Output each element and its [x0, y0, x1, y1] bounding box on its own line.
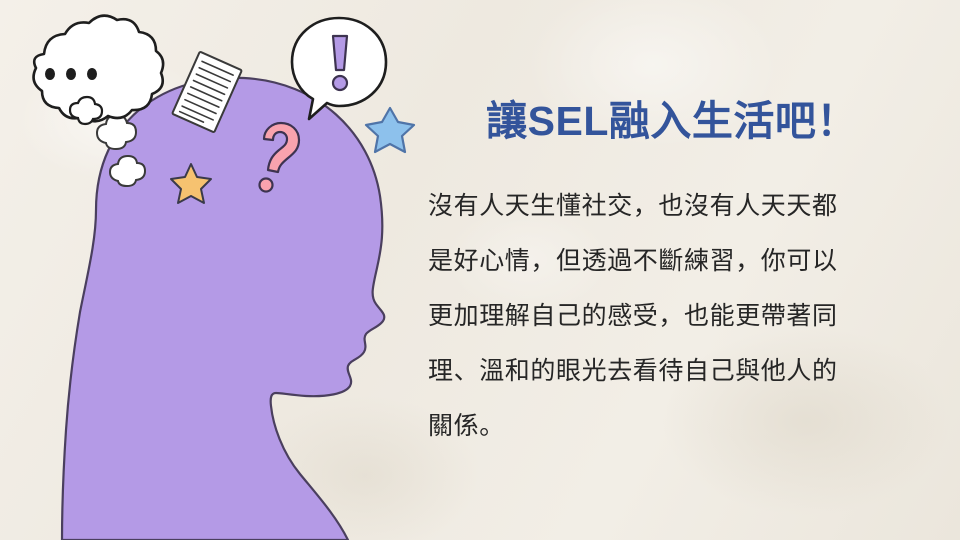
- exclamation-dot: [333, 76, 347, 90]
- body-line: 更加理解自己的感受，也能更帶著同: [412, 289, 932, 344]
- star-blue-icon: [366, 108, 414, 152]
- exclamation-stem: [333, 36, 347, 70]
- thought-dot-1: [45, 68, 55, 80]
- body-line: 是好心情，但透過不斷練習，你可以: [412, 234, 932, 289]
- thought-cloud-icon: [34, 16, 164, 124]
- body-paragraph: 沒有人天生懂社交，也沒有人天天都 是好心情，但透過不斷練習，你可以 更加理解自己…: [412, 179, 932, 454]
- body-line: 關係。: [412, 399, 932, 454]
- thought-dot-3: [87, 68, 97, 80]
- thought-dot-2: [66, 68, 76, 80]
- body-line: 沒有人天生懂社交，也沒有人天天都: [412, 179, 932, 234]
- page-title: 讓SEL融入生活吧！: [412, 98, 932, 145]
- slide-canvas: 讓SEL融入生活吧！ 沒有人天生懂社交，也沒有人天天都 是好心情，但透過不斷練習…: [0, 0, 960, 540]
- body-line: 理、溫和的眼光去看待自己與他人的: [412, 344, 932, 399]
- text-panel: 讓SEL融入生活吧！ 沒有人天生懂社交，也沒有人天天都 是好心情，但透過不斷練習…: [412, 98, 932, 454]
